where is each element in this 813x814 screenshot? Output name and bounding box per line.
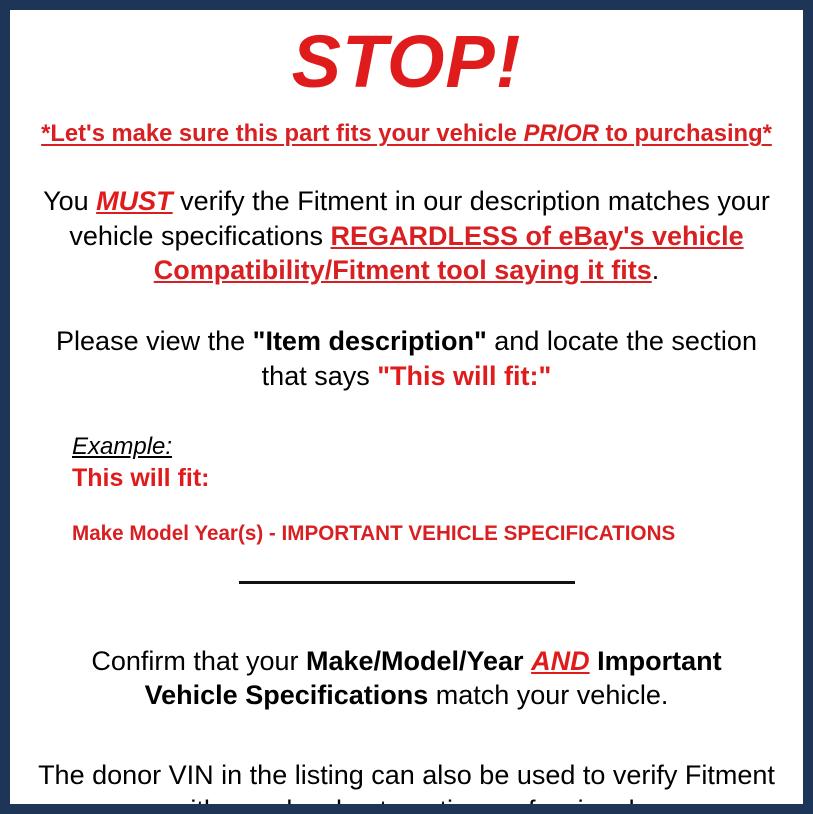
vin-paragraph: The donor VIN in the listing can also be… bbox=[24, 758, 789, 814]
tagline-emphasis-prior: PRIOR bbox=[524, 120, 599, 147]
tagline-prefix: *Let's make sure this part fits your veh… bbox=[41, 120, 523, 147]
confirm-part2 bbox=[524, 646, 532, 676]
item-description-paragraph: Please view the "Item description" and l… bbox=[24, 324, 789, 393]
must-part1: You bbox=[43, 186, 96, 216]
example-label: Example: bbox=[72, 433, 789, 461]
must-part3: . bbox=[652, 255, 660, 285]
example-block: Example: This will fit: Make Model Year(… bbox=[24, 433, 789, 546]
confirm-paragraph: Confirm that your Make/Model/Year AND Im… bbox=[24, 644, 789, 713]
make-model-year-emphasis: Make/Model/Year bbox=[306, 646, 524, 676]
confirm-part4: match your vehicle. bbox=[428, 680, 668, 710]
divider-wrapper bbox=[24, 574, 789, 592]
and-emphasis: AND bbox=[531, 646, 590, 676]
item-description-emphasis: "Item description" bbox=[253, 326, 487, 356]
this-will-fit-emphasis: "This will fit:" bbox=[377, 361, 551, 391]
must-paragraph: You MUST verify the Fitment in our descr… bbox=[24, 184, 789, 287]
tagline: *Let's make sure this part fits your veh… bbox=[35, 121, 777, 148]
section-divider bbox=[239, 581, 575, 584]
notice-body: STOP! *Let's make sure this part fits yo… bbox=[10, 10, 803, 804]
example-fit-line: This will fit: bbox=[72, 462, 789, 495]
fitment-notice-frame: STOP! *Let's make sure this part fits yo… bbox=[0, 0, 813, 814]
confirm-part1: Confirm that your bbox=[91, 646, 306, 676]
example-spec-line: Make Model Year(s) - IMPORTANT VEHICLE S… bbox=[72, 521, 760, 546]
confirm-part3 bbox=[590, 646, 598, 676]
item-part1: Please view the bbox=[56, 326, 253, 356]
stop-heading: STOP! bbox=[24, 10, 789, 99]
tagline-suffix: to purchasing* bbox=[599, 120, 772, 147]
must-emphasis: MUST bbox=[96, 186, 173, 216]
